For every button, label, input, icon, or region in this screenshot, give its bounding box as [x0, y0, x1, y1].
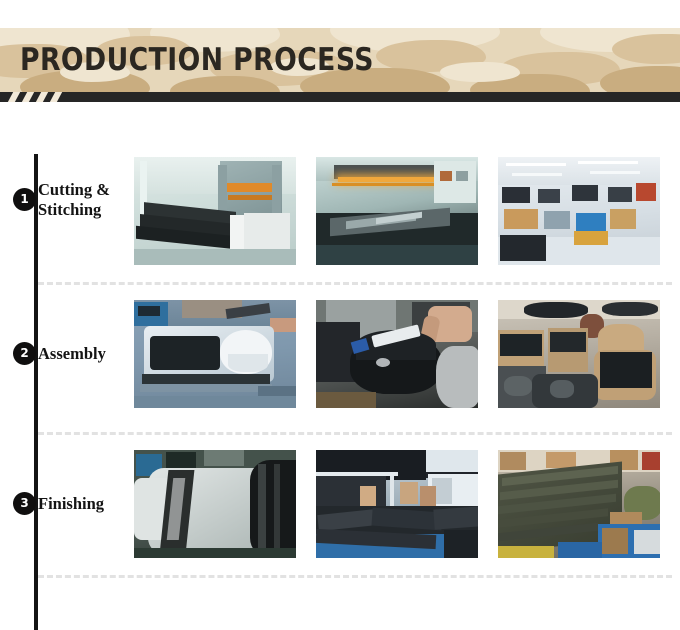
page-header-banner: PRODUCTION PROCESS [0, 28, 680, 92]
step-divider [38, 575, 672, 578]
page-title: PRODUCTION PROCESS [20, 42, 374, 78]
thumbnail-image[interactable] [132, 448, 298, 560]
header-accent-stripe [0, 92, 680, 102]
step-divider [38, 432, 672, 435]
thumbnail-image[interactable] [314, 155, 480, 267]
process-steps-section: 1 Cutting & Stitching [0, 102, 680, 607]
step-label: Cutting & Stitching [38, 180, 130, 220]
thumbnail-image[interactable] [496, 448, 662, 560]
thumbnail-image[interactable] [496, 298, 662, 410]
thumbnail-image[interactable] [496, 155, 662, 267]
step-number-badge: 3 [13, 492, 36, 515]
step-label: Assembly [38, 344, 130, 364]
step-label: Finishing [38, 494, 130, 514]
thumbnail-image[interactable] [314, 298, 480, 410]
step-number-badge: 2 [13, 342, 36, 365]
hatch-mark-icon [47, 92, 65, 102]
thumbnail-image[interactable] [132, 155, 298, 267]
hatch-mark-icon [33, 92, 51, 102]
timeline-vertical-line [34, 154, 38, 630]
step-number-badge: 1 [13, 188, 36, 211]
hatch-mark-icon [19, 92, 37, 102]
thumbnail-image[interactable] [132, 298, 298, 410]
step-divider [38, 282, 672, 285]
thumbnail-image[interactable] [314, 448, 480, 560]
hatch-mark-icon [5, 92, 23, 102]
